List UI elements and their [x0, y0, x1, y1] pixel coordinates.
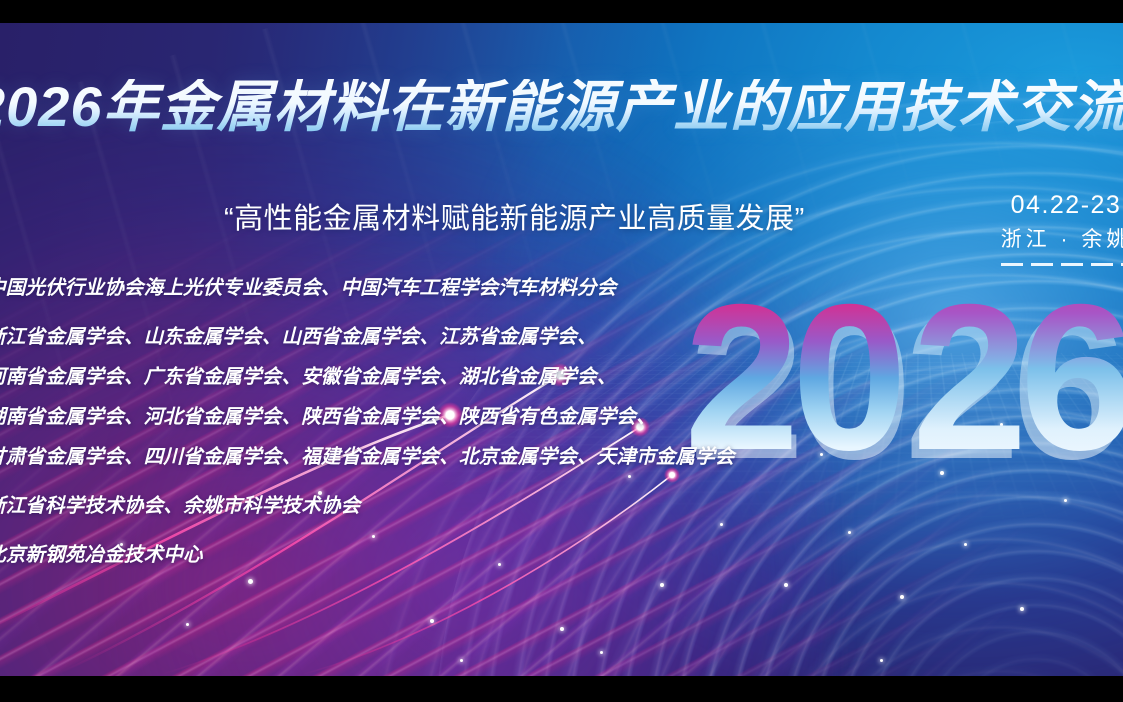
organizer-line: 浙江省金属学会、山东金属学会、山西省金属学会、江苏省金属学会、 — [0, 320, 746, 349]
poster-subtitle: “高性能金属材料赋能新能源产业高质量发展” — [224, 195, 805, 237]
letterbox-bar-bottom — [0, 676, 1123, 702]
poster-text-layer: 2026年金属材料在新能源产业的应用技术交流会 “高性能金属材料赋能新能源产业高… — [0, 23, 1123, 676]
event-meta-block: 04.22-23 浙江 · 余姚 — [991, 191, 1123, 266]
organizer-line: 浙江省科学技术协会、余姚市科学技术协会 — [0, 489, 746, 518]
organizer-line: 北京新钢苑冶金技术中心 — [0, 538, 746, 567]
letterbox-bar-top — [0, 0, 1123, 23]
organizer-line: 中国光伏行业协会海上光伏专业委员会、中国汽车工程学会汽车材料分会 — [0, 271, 746, 300]
organizer-line: 甘肃省金属学会、四川省金属学会、福建省金属学会、北京金属学会、天津市金属学会 — [0, 440, 746, 469]
organizer-list: 中国光伏行业协会海上光伏专业委员会、中国汽车工程学会汽车材料分会 浙江省金属学会… — [0, 271, 746, 567]
event-date: 04.22-23 — [991, 191, 1123, 220]
dashed-divider — [1001, 263, 1123, 266]
organizer-line: 湖南省金属学会、河北省金属学会、陕西省金属学会、陕西省有色金属学会、 — [0, 400, 746, 429]
page-title: 2026年金属材料在新能源产业的应用技术交流会 — [0, 79, 1123, 135]
organizer-line: 河南省金属学会、广东省金属学会、安徽省金属学会、湖北省金属学会、 — [0, 360, 746, 389]
poster-canvas: 2026 20 26 2026年金属材料在新能源产业的应用技术交流会 “高性能金… — [0, 0, 1123, 702]
event-location: 浙江 · 余姚 — [991, 223, 1123, 253]
poster-artwork: 2026 20 26 2026年金属材料在新能源产业的应用技术交流会 “高性能金… — [0, 23, 1123, 676]
